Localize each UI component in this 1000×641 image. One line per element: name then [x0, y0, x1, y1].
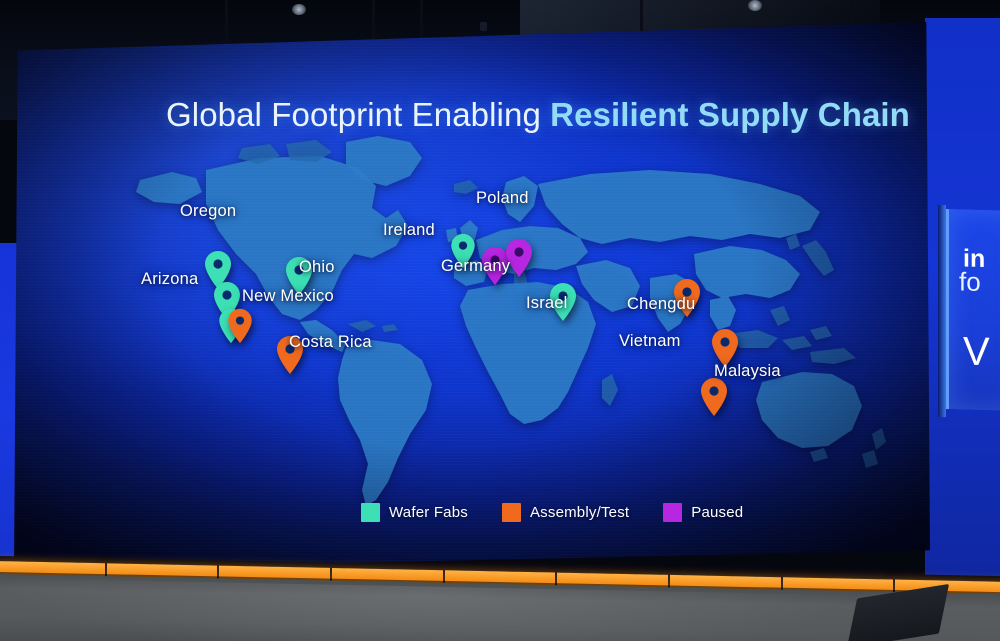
legend-label-paused: Paused [691, 504, 743, 521]
map-label-germany: Germany [441, 257, 510, 276]
map-label-ohio: Ohio [299, 258, 335, 277]
legend-swatch-paused [663, 503, 682, 522]
side-banner-line2: fo [959, 269, 981, 294]
map-label-new-mexico: New Mexico [242, 287, 334, 306]
ceiling-speaker [480, 22, 487, 31]
legend-swatch-assembly-test [502, 503, 521, 522]
side-banner-line3: V [963, 331, 990, 372]
map-label-oregon: Oregon [180, 202, 236, 221]
map-legend: Wafer Fabs Assembly/Test Paused [361, 503, 777, 522]
ceiling-light [748, 0, 762, 11]
venue-photo: in fo V [0, 0, 1000, 641]
map-label-chengdu: Chengdu [627, 295, 695, 314]
title-light-part: Global Footprint Enabling [166, 96, 550, 133]
map-label-costa-rica: Costa Rica [289, 333, 372, 352]
map-label-ireland: Ireland [383, 221, 435, 240]
ceiling-light [292, 4, 306, 15]
right-side-banner: in fo V [946, 209, 1000, 411]
legend-item-wafer-fabs[interactable]: Wafer Fabs [361, 503, 468, 522]
map-label-vietnam: Vietnam [619, 332, 681, 351]
map-label-malaysia: Malaysia [714, 362, 781, 381]
legend-item-assembly-test[interactable]: Assembly/Test [502, 503, 629, 522]
map-label-israel: Israel [526, 294, 568, 313]
legend-label-wafer-fabs: Wafer Fabs [389, 504, 468, 521]
title-bold-part: Resilient Supply Chain [550, 96, 910, 133]
legend-item-paused[interactable]: Paused [663, 503, 743, 522]
map-label-arizona: Arizona [141, 270, 198, 289]
map-label-poland: Poland [476, 189, 529, 208]
slide-title: Global Footprint Enabling Resilient Supp… [166, 96, 906, 134]
map-pin-malaysia[interactable] [699, 377, 729, 417]
main-led-screen: Global Footprint Enabling Resilient Supp… [14, 22, 930, 570]
map-pin-new-mexico-assembly-test[interactable] [227, 308, 254, 344]
legend-swatch-wafer-fabs [361, 503, 380, 522]
right-panel-edge [938, 205, 946, 417]
legend-label-assembly-test: Assembly/Test [530, 504, 629, 521]
